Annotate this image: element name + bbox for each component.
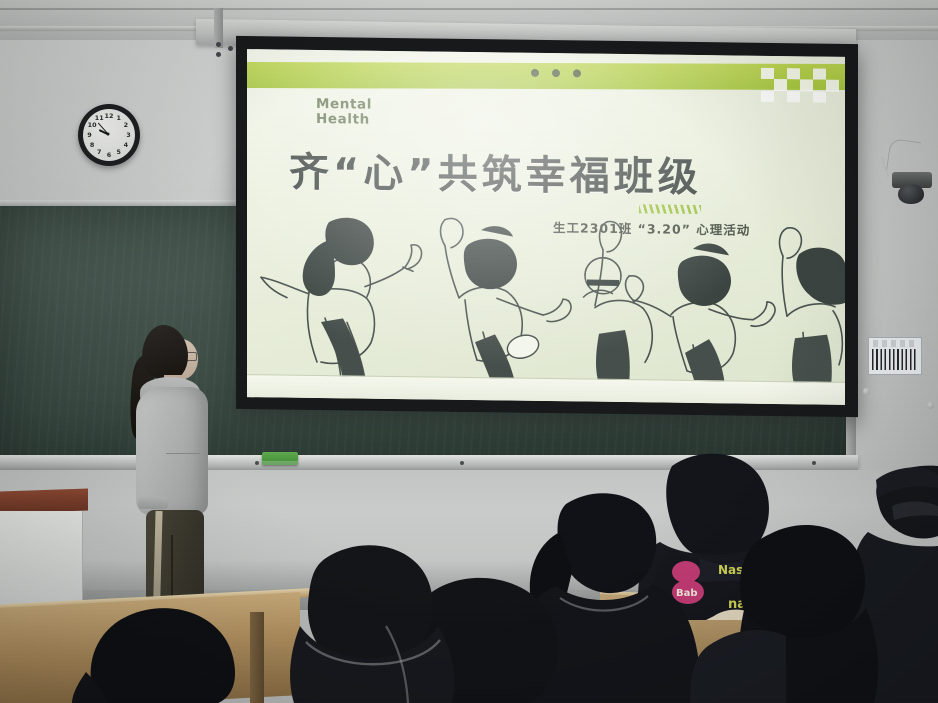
clock-numeral: 11 [95, 114, 104, 122]
slide-band-dots [531, 69, 581, 78]
projector-screen[interactable]: Mental Health 齐“心”共筑幸福班级 生工2301班 “3.20” … [247, 49, 845, 405]
svg-text:Bab: Bab [676, 588, 698, 599]
checker-cell [787, 79, 800, 90]
ceiling-seam [0, 8, 938, 10]
svg-text:Nas: Nas [718, 563, 743, 577]
checker-cell [800, 68, 813, 79]
clock-numeral: 7 [97, 148, 101, 156]
slide-title: 齐“心”共筑幸福班级 [289, 140, 809, 205]
clock-numeral: 3 [126, 131, 130, 139]
audience-member [290, 545, 454, 703]
slide-eyebrow-line2: Health [316, 112, 372, 128]
checker-cell [761, 90, 774, 101]
checker-cell [813, 80, 826, 91]
camera-dome-icon [898, 184, 924, 204]
checker-cell [774, 79, 787, 90]
checker-cell [826, 80, 839, 91]
checker-cell [761, 68, 774, 79]
clock-numeral: 1 [117, 114, 121, 122]
slide-checker-pattern [761, 68, 839, 103]
asset-barcode-tag [868, 337, 922, 375]
clock-numeral: 4 [124, 141, 128, 149]
checker-cell [826, 69, 839, 80]
clock-numeral: 6 [107, 151, 111, 159]
checker-cell [787, 91, 800, 102]
mount-bolt [228, 46, 233, 51]
checker-cell [787, 68, 800, 79]
clock-numeral: 12 [105, 112, 114, 120]
clock-numeral: 2 [124, 121, 128, 129]
mount-bolt [216, 42, 221, 47]
barcode-lines [872, 349, 918, 370]
audience-member [72, 608, 235, 703]
classroom-photo: 121234567891011 Mental Health 齐“心”共筑幸福班级… [0, 0, 938, 703]
audience-group: Bab Nas nas [0, 440, 938, 703]
clock-numeral: 8 [90, 141, 94, 149]
band-dot [552, 69, 560, 77]
checker-cell [761, 79, 774, 90]
presenter-hair [142, 325, 188, 381]
checker-cell [813, 91, 826, 102]
checker-cell [774, 68, 787, 79]
checker-cell [813, 68, 826, 79]
clock-numeral: 5 [117, 148, 121, 156]
checker-cell [826, 91, 839, 102]
band-dot [531, 69, 539, 77]
barcode-header [873, 340, 917, 347]
checker-cell [800, 91, 813, 102]
wall-screw [927, 402, 934, 409]
slide-illustration [247, 199, 845, 387]
wall-screw [863, 388, 870, 395]
wall-clock: 121234567891011 [78, 104, 140, 166]
presentation-slide: Mental Health 齐“心”共筑幸福班级 生工2301班 “3.20” … [247, 49, 845, 405]
mount-bolt [216, 52, 221, 57]
clock-numeral: 10 [88, 121, 97, 129]
checker-cell [800, 80, 813, 91]
slide-eyebrow: Mental Health [316, 97, 372, 128]
clock-numeral: 9 [87, 131, 91, 139]
clock-center-pin [107, 133, 110, 136]
checker-cell [774, 91, 787, 102]
band-dot [573, 69, 581, 77]
